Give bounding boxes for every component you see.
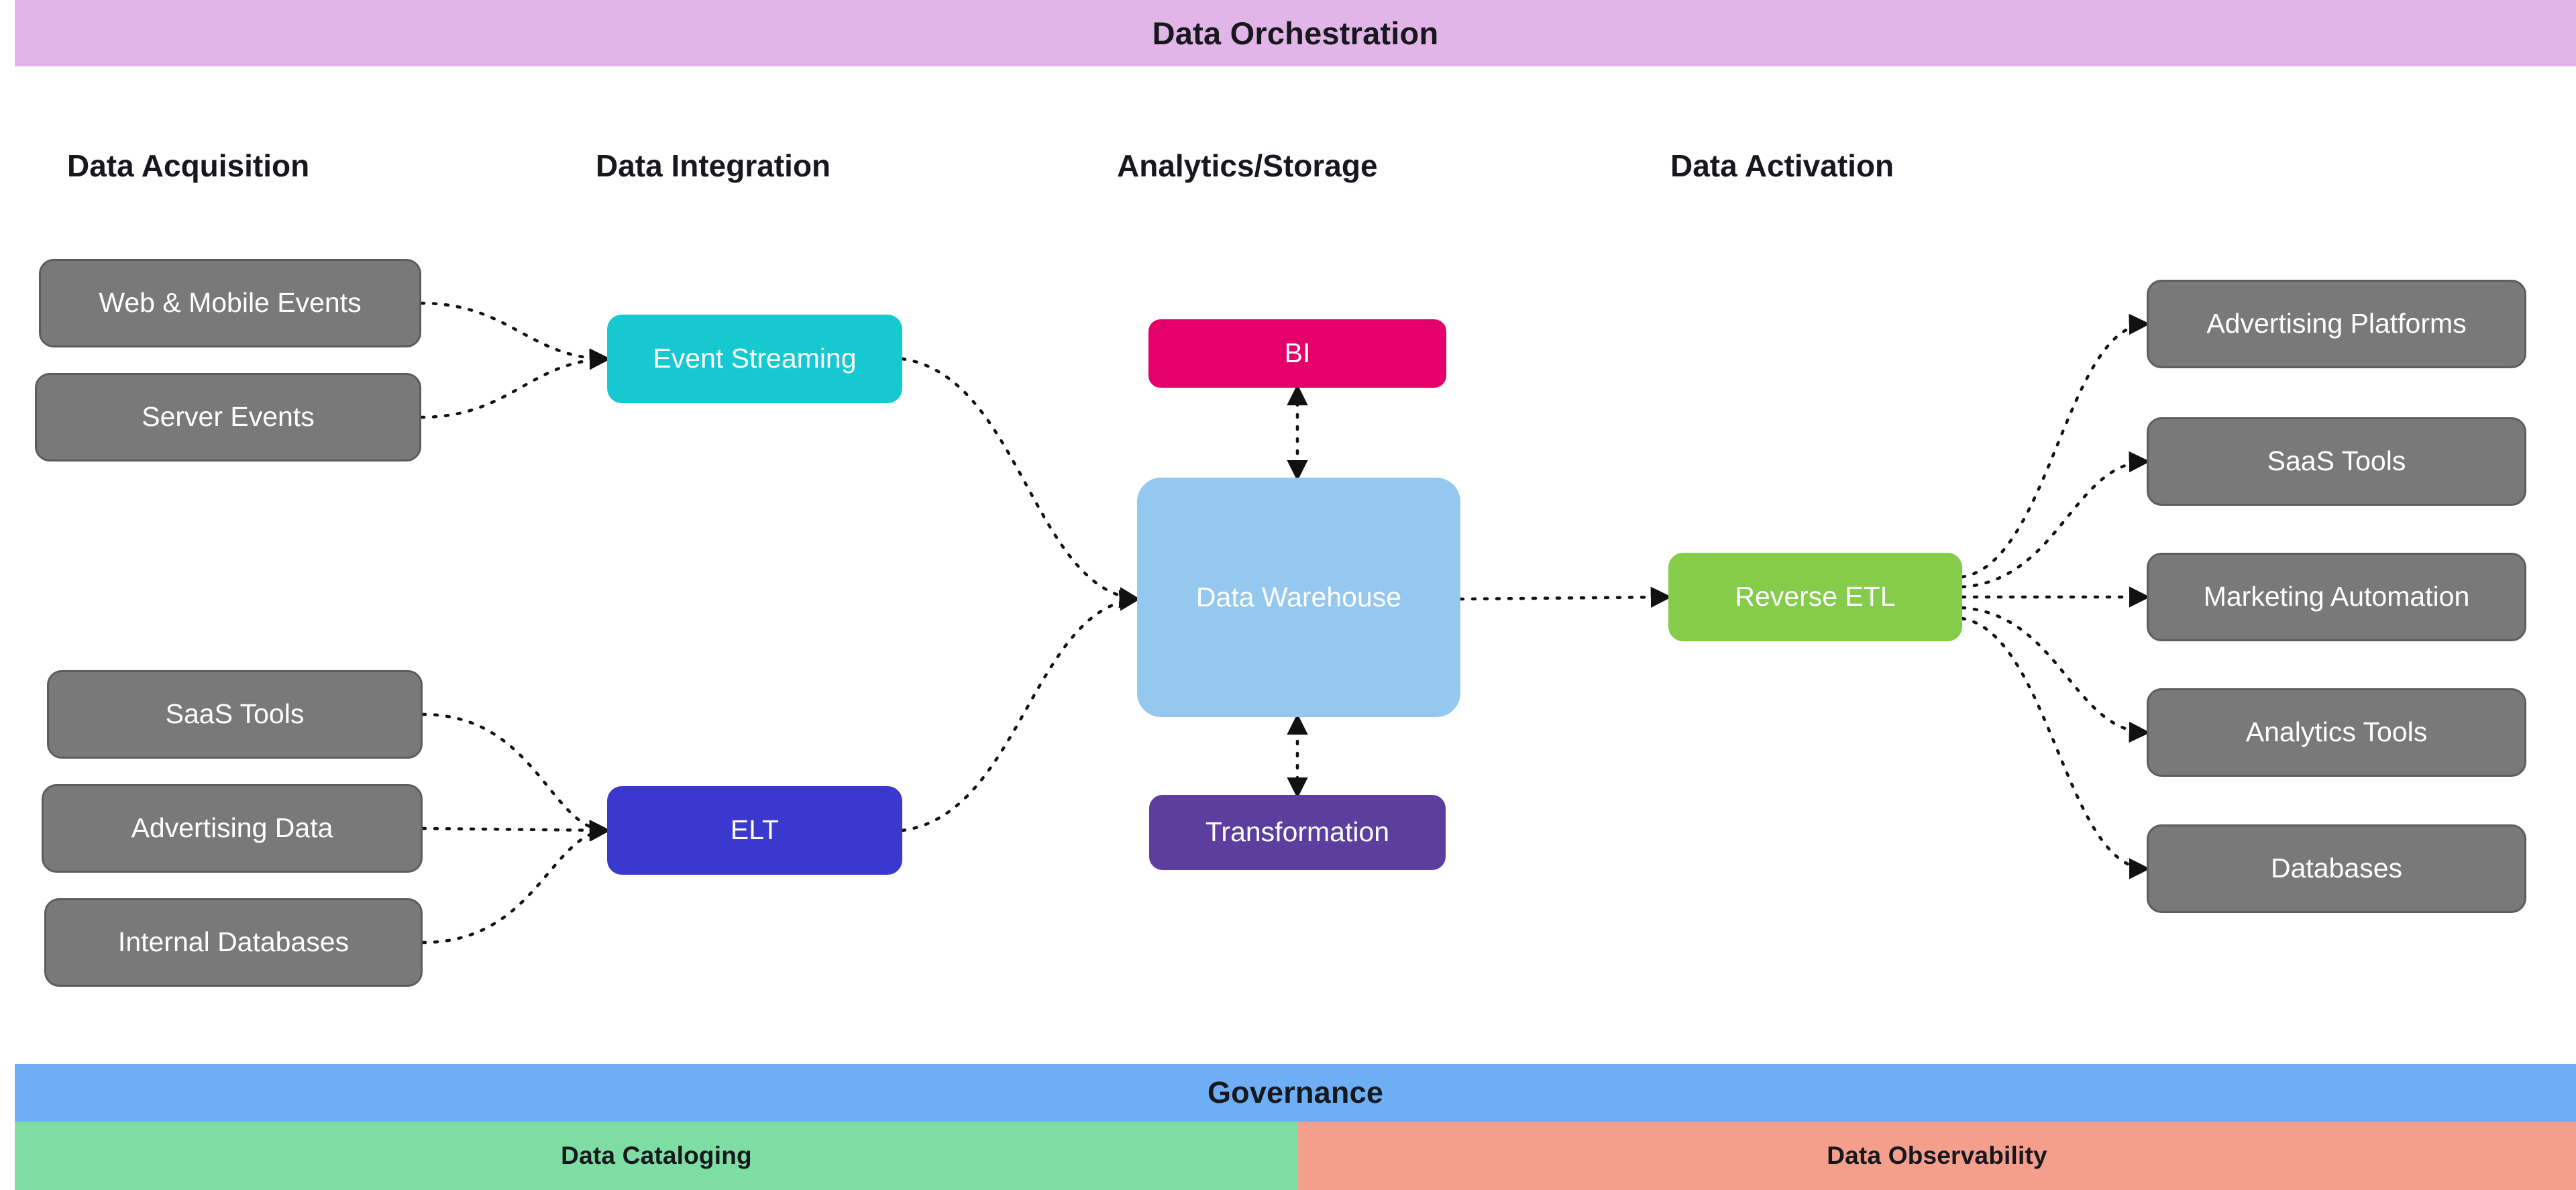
node-analytics-tools[interactable]: Analytics Tools (2147, 688, 2526, 777)
node-databases[interactable]: Databases (2147, 824, 2526, 913)
governance-label: Governance (1207, 1075, 1383, 1110)
edge-reverse-etl-to-saas-tools (1962, 462, 2147, 587)
edge-server-events-to-event-streaming (421, 359, 607, 417)
data-orchestration-label: Data Orchestration (1152, 15, 1439, 52)
node-label: Server Events (142, 402, 315, 432)
node-label: Databases (2271, 853, 2402, 883)
edge-event-streaming-to-data-warehouse (902, 359, 1137, 599)
node-label: SaaS Tools (166, 699, 305, 729)
edge-internal-databases-to-elt (423, 830, 607, 942)
data-cataloging-banner: Data Cataloging (15, 1122, 1298, 1190)
column-header-label: Data Activation (1670, 148, 1894, 183)
node-transformation[interactable]: Transformation (1149, 795, 1446, 870)
edge-elt-to-data-warehouse (902, 599, 1137, 830)
column-header-analytics-storage: Analytics/Storage (1117, 148, 1378, 184)
edge-advertising-data-to-elt (423, 828, 607, 830)
node-event-streaming[interactable]: Event Streaming (607, 315, 902, 403)
edge-reverse-etl-to-databases (1962, 618, 2147, 869)
data-observability-label: Data Observability (1827, 1142, 2047, 1170)
node-web-mobile-events[interactable]: Web & Mobile Events (39, 259, 421, 347)
node-label: Data Warehouse (1196, 582, 1401, 612)
column-header-label: Data Integration (596, 148, 830, 183)
edge-web-mobile-to-event-streaming (421, 303, 607, 359)
column-header-data-integration: Data Integration (596, 148, 830, 184)
node-data-warehouse[interactable]: Data Warehouse (1137, 478, 1460, 717)
diagram-canvas: Data Orchestration Data Acquisition Data… (0, 0, 2576, 1190)
governance-banner: Governance (15, 1064, 2576, 1122)
node-marketing-automation[interactable]: Marketing Automation (2147, 553, 2526, 641)
node-label: Advertising Data (131, 813, 333, 843)
column-header-label: Data Acquisition (67, 148, 309, 183)
node-label: ELT (731, 815, 779, 845)
node-label: SaaS Tools (2267, 446, 2406, 476)
edge-saas-tools-to-elt (423, 714, 607, 830)
node-internal-databases[interactable]: Internal Databases (44, 898, 423, 987)
node-label: Marketing Automation (2204, 582, 2470, 612)
node-label: BI (1285, 338, 1311, 368)
node-label: Internal Databases (118, 927, 349, 957)
node-saas-tools-target[interactable]: SaaS Tools (2147, 417, 2526, 506)
edge-data-warehouse-to-reverse-etl (1460, 597, 1668, 599)
node-reverse-etl[interactable]: Reverse ETL (1668, 553, 1962, 641)
node-advertising-platforms[interactable]: Advertising Platforms (2147, 280, 2526, 368)
node-advertising-data[interactable]: Advertising Data (42, 784, 423, 873)
column-header-data-activation: Data Activation (1670, 148, 1894, 184)
edge-reverse-etl-to-analytics-tools (1962, 608, 2147, 733)
edge-reverse-etl-to-advertising-platforms (1962, 324, 2147, 577)
node-server-events[interactable]: Server Events (35, 373, 421, 462)
node-label: Advertising Platforms (2206, 309, 2466, 339)
column-header-data-acquisition: Data Acquisition (67, 148, 309, 184)
data-orchestration-banner: Data Orchestration (15, 0, 2576, 66)
node-label: Analytics Tools (2246, 717, 2427, 747)
column-header-label: Analytics/Storage (1117, 148, 1378, 183)
node-elt[interactable]: ELT (607, 786, 902, 875)
node-bi[interactable]: BI (1148, 319, 1446, 388)
node-label: Transformation (1205, 817, 1389, 847)
data-observability-banner: Data Observability (1298, 1122, 2576, 1190)
data-cataloging-label: Data Cataloging (561, 1142, 752, 1170)
node-label: Reverse ETL (1735, 582, 1895, 612)
node-label: Event Streaming (653, 343, 856, 374)
node-saas-tools-source[interactable]: SaaS Tools (47, 670, 423, 759)
node-label: Web & Mobile Events (99, 288, 361, 318)
